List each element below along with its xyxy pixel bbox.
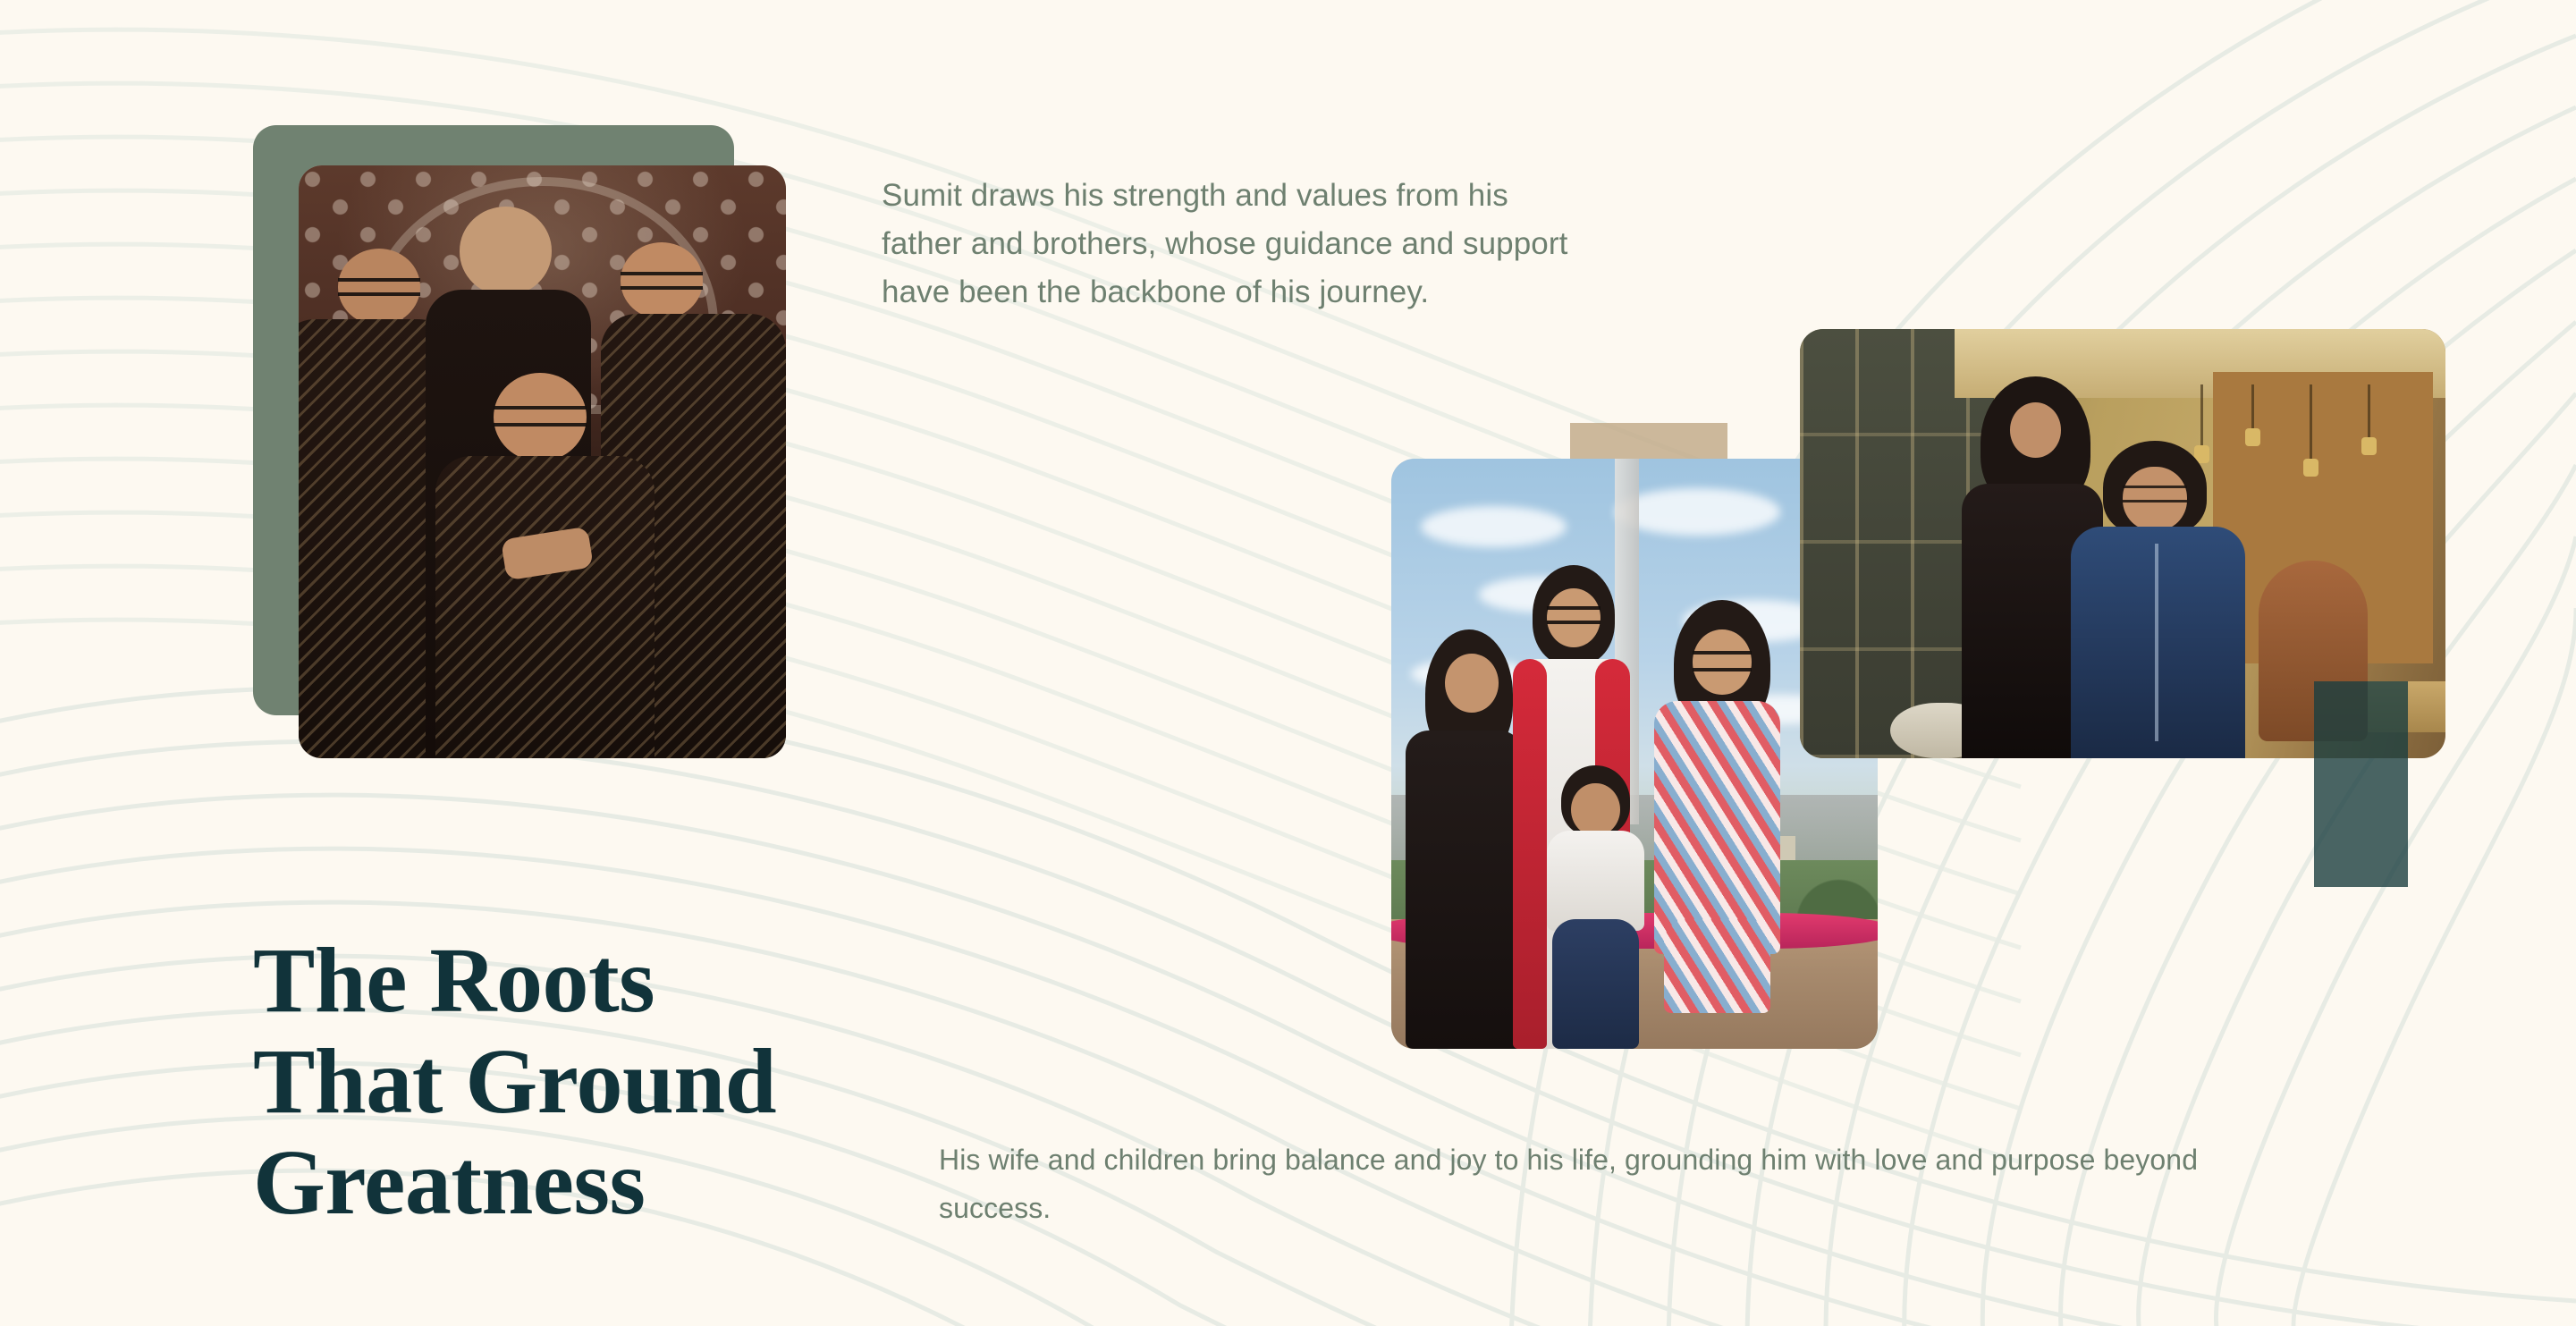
teal-accent-block bbox=[2314, 681, 2408, 887]
roots-intro-paragraph: Sumit draws his strength and values from… bbox=[882, 172, 1579, 317]
headline-line-2: That Ground bbox=[253, 1031, 933, 1132]
page-title: The Roots That Ground Greatness bbox=[253, 930, 933, 1233]
family-balance-paragraph: His wife and children bring balance and … bbox=[939, 1136, 2298, 1232]
headline-line-3: Greatness bbox=[253, 1132, 933, 1233]
family-men-photo bbox=[299, 165, 786, 758]
about-roots-section: Sumit draws his strength and values from… bbox=[0, 0, 2576, 1326]
headline-line-1: The Roots bbox=[253, 930, 933, 1031]
